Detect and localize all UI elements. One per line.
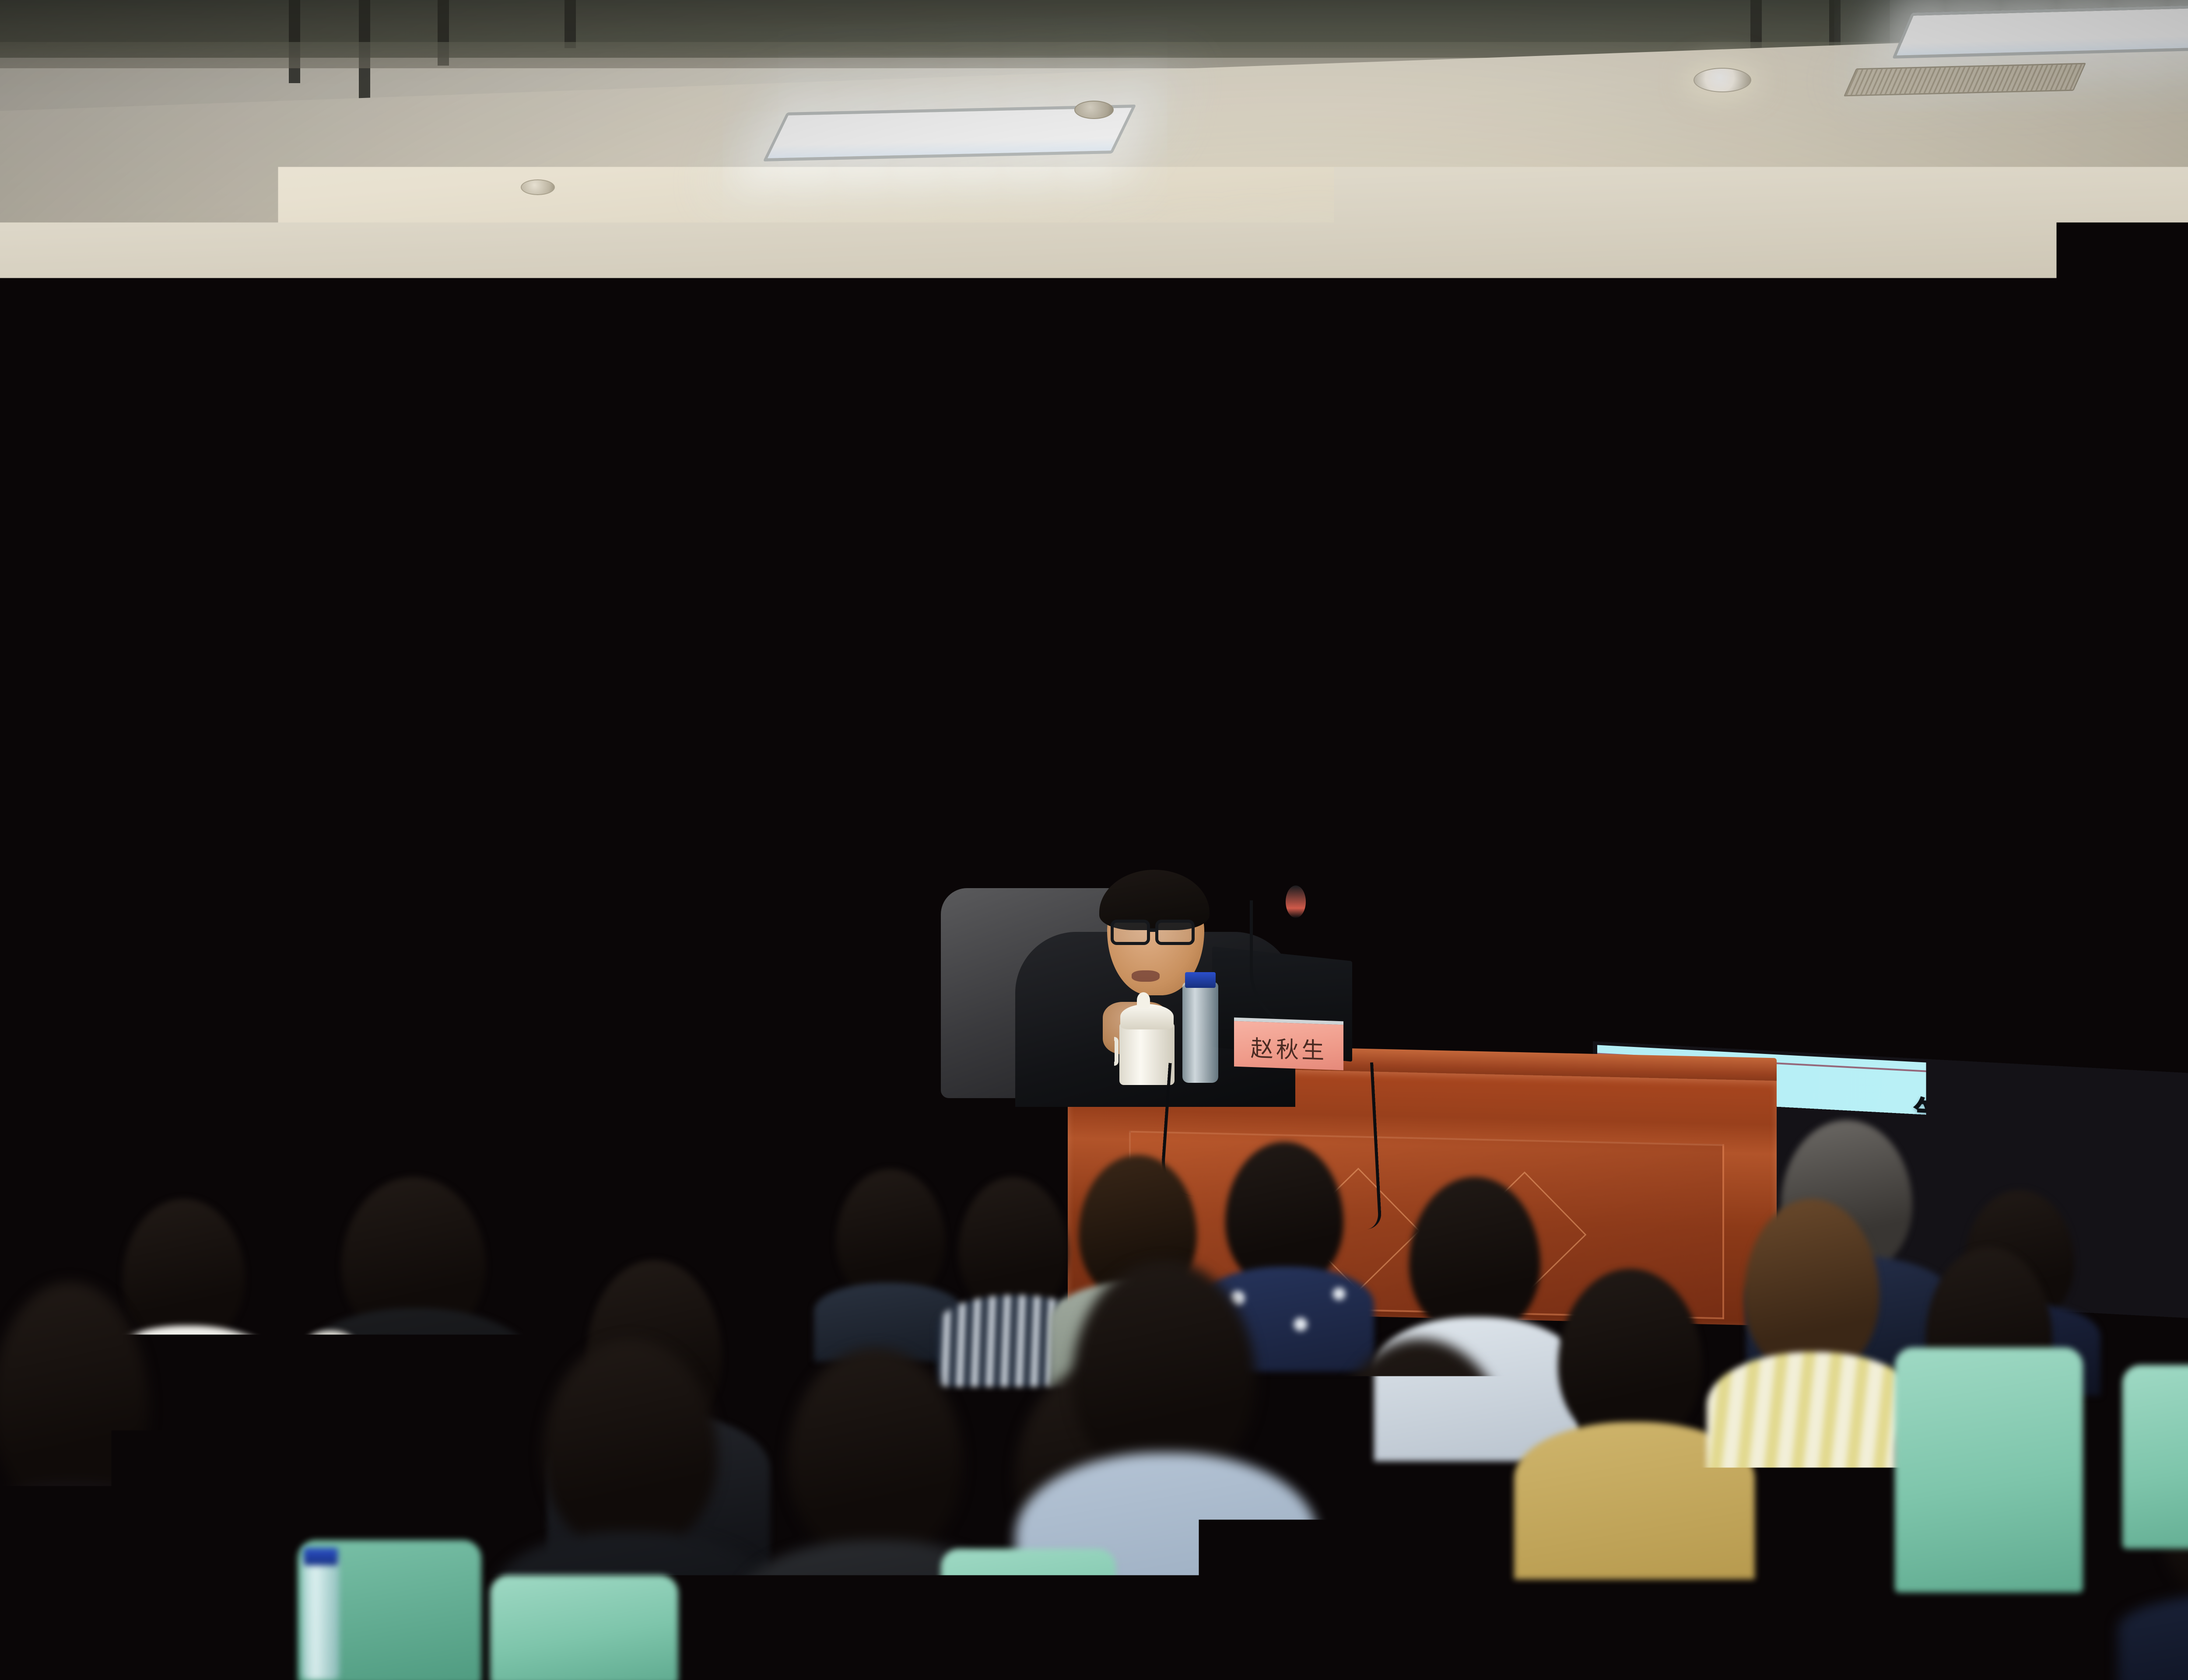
name-plate: 赵秋生 — [1234, 1018, 1343, 1071]
audience-chair — [1707, 1444, 1890, 1680]
podium-microphone-head-icon — [579, 883, 596, 900]
dome-camera-lens-icon — [512, 480, 539, 505]
audience-chair — [2122, 1365, 2188, 1549]
audience-tea-mug — [1549, 1632, 1601, 1680]
ceiling-slat — [289, 0, 300, 83]
slide-section1-number: 1. — [1625, 697, 1667, 754]
tea-mug-handle — [1114, 1037, 1119, 1066]
ceiling-downlight — [57, 365, 113, 389]
stage-front-lip — [206, 1041, 722, 1056]
speaker-handle — [70, 1124, 89, 1207]
slide-body-line2-part3: 等方面 — [1892, 875, 2027, 942]
audience-phone — [1934, 1610, 2004, 1658]
slide-section2-heading: 劳动保护涵盖范围 — [1619, 928, 2068, 1028]
slide2-line1-right: 第四十四条 — [1912, 1084, 2122, 1156]
tea-mug-knob — [1137, 992, 1150, 1008]
ceiling-downlight — [839, 322, 892, 344]
ceiling-downlight — [1107, 374, 1109, 376]
audience-chair — [490, 1575, 678, 1680]
audience-member — [823, 1169, 954, 1357]
audience-tea-mug-lid — [307, 1331, 354, 1354]
ceiling-slat — [565, 0, 576, 48]
camera-status-led-icon — [1078, 466, 1085, 472]
wall-wood-inset — [1138, 573, 1189, 592]
smoke-detector-icon — [521, 179, 555, 195]
slide-body-line2-part2: 设备 — [1799, 870, 1889, 934]
speaker-handle — [70, 744, 89, 827]
audience-water-bottle-cap — [304, 1548, 338, 1565]
smoke-detector-icon — [1074, 101, 1114, 119]
audience-water-bottle-cap — [1450, 1530, 1483, 1548]
slide-body-line1-highlight: 职工 — [1940, 809, 2030, 873]
presenter-glasses-icon — [1155, 920, 1195, 945]
ceiling-downlight — [1694, 68, 1751, 92]
slide-body-line1-part1: 为了保障 — [1763, 799, 1943, 868]
podium-neck — [477, 957, 705, 999]
ptz-camera-icon — [1029, 459, 1139, 479]
audience-tea-mug — [306, 1347, 354, 1404]
slide-body-line2-sep: 、 — [1757, 868, 1802, 930]
slide-title: （一）劳动保护概念内涵 — [1494, 584, 2188, 705]
speaker-handle — [70, 871, 89, 954]
slide-section1-heading: 劳动保护概念 — [1713, 697, 2039, 788]
audience-tea-mug-lid — [1550, 1614, 1600, 1638]
water-bottle-cap — [1185, 972, 1216, 988]
ceiling-troffer-light — [1892, 5, 2188, 59]
slide-body-line1-part2: 在生产劳动 — [2030, 813, 2188, 885]
audience-tea-mug-lid — [955, 1619, 1004, 1642]
podium-top — [438, 900, 744, 957]
ceiling-downlight-off — [319, 375, 361, 391]
grey-stage-curtain — [61, 419, 565, 1102]
table-microphone-head-icon — [1286, 885, 1306, 918]
ptz-camera-lens-icon — [1061, 491, 1090, 521]
audience-chair — [74, 1514, 267, 1680]
audience-tea-mug — [954, 1636, 1004, 1680]
slide-body-line2-part1: 教育培训及技术 — [1468, 853, 1781, 929]
audience-water-bottle — [1448, 1540, 1485, 1654]
audience-chair — [1895, 1347, 2083, 1592]
audience-water-bottle — [302, 1557, 340, 1680]
glasses-bridge-icon — [1149, 928, 1158, 932]
slide-section2-number: 2. — [1555, 928, 1599, 987]
speaker-handle — [70, 997, 89, 1081]
conference-hall-photo: （一）劳动保护概念内涵 1. 劳动保护概念 为了保障 职工 在生产劳动 教育培训… — [0, 0, 2188, 1680]
ceiling-air-vent — [1844, 63, 2086, 97]
tea-mug — [1119, 1023, 1175, 1085]
presenter-mouth — [1132, 970, 1160, 982]
presenter-glasses-icon — [1111, 920, 1150, 945]
